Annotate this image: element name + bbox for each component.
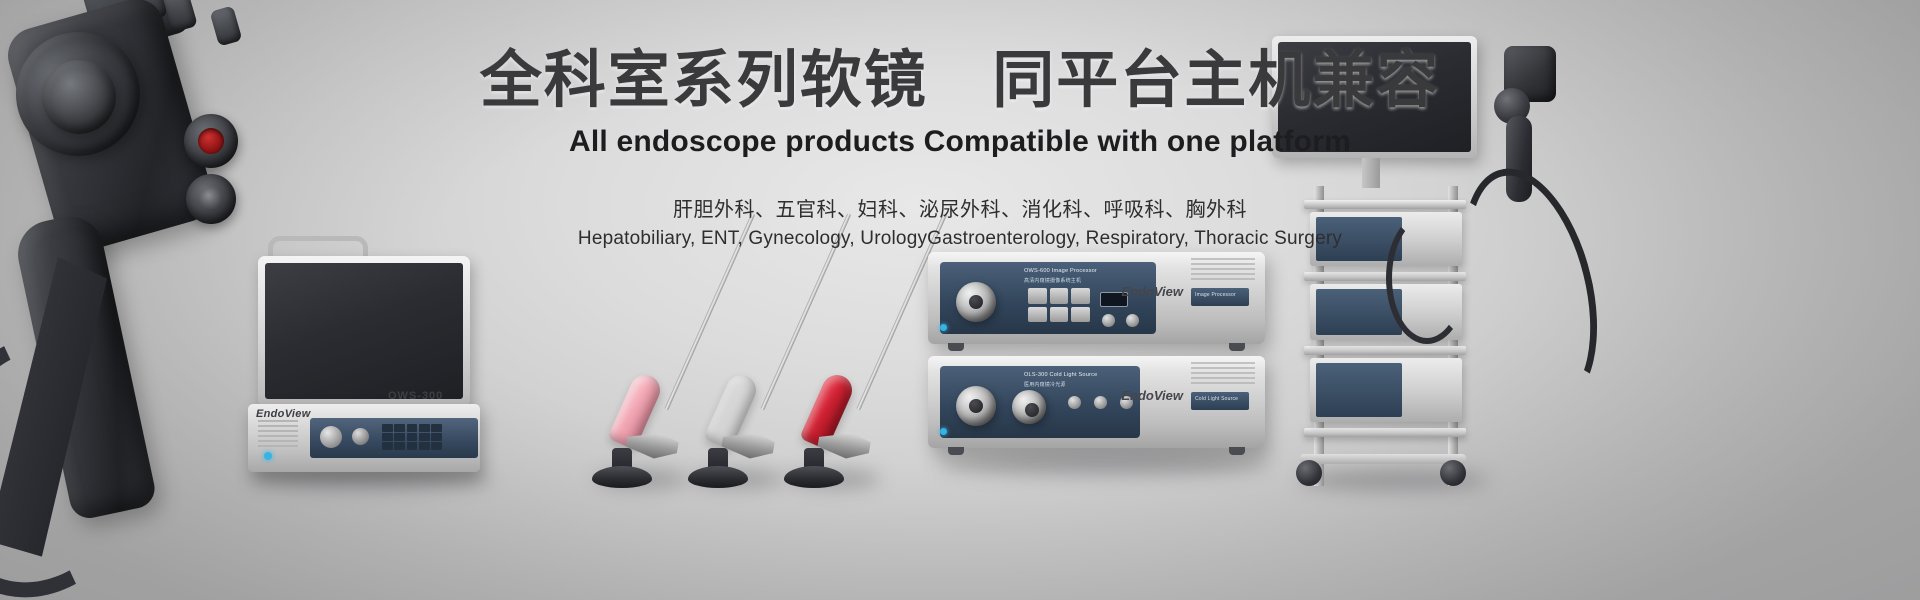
cart-base-frame	[1300, 454, 1466, 464]
console-brand-label: EndoView	[1121, 388, 1183, 403]
headline-chinese: 全科室系列软镜 同平台主机兼容	[0, 46, 1920, 115]
console-vent	[1191, 258, 1255, 280]
console-foot-left	[948, 343, 964, 351]
console-vent	[1191, 362, 1255, 384]
banner-text-block: 全科室系列软镜 同平台主机兼容 All endoscope products C…	[0, 46, 1920, 250]
workstation-keypad[interactable]	[382, 424, 442, 450]
headline-chinese-part1: 全科室系列软镜	[480, 46, 928, 115]
console-badge-text: Image Processor	[1195, 292, 1236, 298]
console-title-cn: 医用内窥镜冷光源	[1024, 381, 1066, 388]
cart-caster-right	[1440, 460, 1466, 486]
headline-english: All endoscope products Compatible with o…	[0, 125, 1920, 159]
console-badge-text: Cold Light Source	[1195, 396, 1238, 402]
console-power-led	[940, 324, 947, 331]
cart-shelf-4	[1304, 428, 1466, 437]
headline-chinese-part2: 同平台主机兼容	[992, 46, 1440, 115]
instrument-stand-base	[688, 466, 748, 488]
workstation-main-dial[interactable]	[320, 426, 342, 448]
console-title-en: OLS-300 Cold Light Source	[1024, 372, 1097, 378]
console-foot-right	[1229, 447, 1245, 455]
cart-caster-left	[1296, 460, 1322, 486]
instrument-stand-base	[784, 466, 844, 488]
console-brightness-dial[interactable]	[1012, 390, 1046, 424]
cart-shelf-3	[1304, 346, 1466, 355]
cold-light-source-console: OLS-300 Cold Light Source 医用内窥镜冷光源 EndoV…	[928, 356, 1265, 448]
console-badge: Image Processor	[1191, 288, 1249, 306]
console-front-panel: OLS-300 Cold Light Source 医用内窥镜冷光源	[940, 366, 1140, 438]
console-title-cn: 高清内窥镜摄像系统主机	[1024, 277, 1081, 284]
cart-unit-3	[1310, 358, 1462, 422]
console-button-a[interactable]	[1068, 396, 1081, 409]
console-foot-left	[948, 447, 964, 455]
console-power-led	[940, 428, 947, 435]
console-keypad[interactable]	[1028, 288, 1090, 322]
endoscope-umbilical-cable	[0, 301, 190, 600]
console-title-en: OWS-600 Image Processor	[1024, 268, 1097, 274]
instrument-stand-base	[592, 466, 652, 488]
cart-unit-3-panel	[1316, 363, 1402, 417]
specialties-chinese: 肝胆外科、五官科、妇科、泌尿外科、消化科、呼吸科、胸外科	[0, 193, 1920, 222]
laparoscopic-instrument-red	[782, 250, 902, 490]
image-processor-console: OWS-600 Image Processor 高清内窥镜摄像系统主机 Endo…	[928, 252, 1265, 344]
console-button-b[interactable]	[1094, 396, 1107, 409]
workstation-model-label: OWS-300	[388, 390, 443, 402]
console-foot-right	[1229, 343, 1245, 351]
workstation-secondary-dial[interactable]	[352, 428, 369, 445]
endoscope-button-3	[210, 5, 243, 46]
console-main-dial[interactable]	[956, 282, 996, 322]
console-button-a[interactable]	[1102, 314, 1115, 327]
specialties-english: Hepatobiliary, ENT, Gynecology, UrologyG…	[0, 228, 1920, 250]
console-brand-label: EndoView	[1121, 284, 1183, 299]
console-badge: Cold Light Source	[1191, 392, 1249, 410]
stacked-console-units: OWS-600 Image Processor 高清内窥镜摄像系统主机 Endo…	[928, 252, 1273, 462]
console-button-b[interactable]	[1126, 314, 1139, 327]
console-main-dial[interactable]	[956, 386, 996, 426]
endoscope-product-banner: 全科室系列软镜 同平台主机兼容 All endoscope products C…	[0, 0, 1920, 600]
